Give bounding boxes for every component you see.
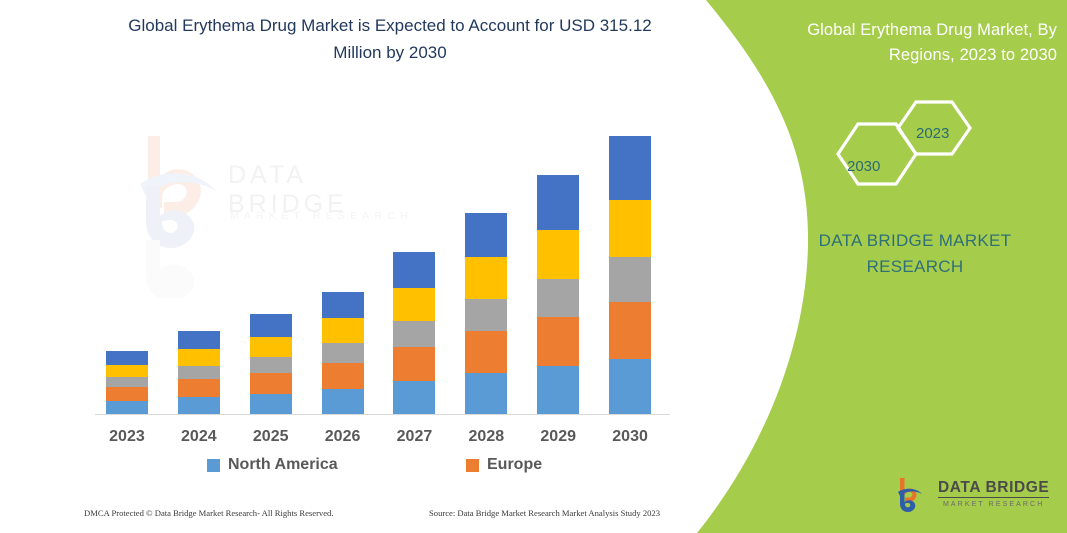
legend-swatch-north-america [207,459,220,472]
bar-segment-2026-north-america[interactable] [322,389,364,414]
bar-segment-2030-south-america[interactable] [609,200,651,257]
hexagon-2023-label: 2023 [916,125,949,142]
logo-line-2: MARKET RESEARCH [938,501,1049,508]
bar-2027[interactable] [393,252,435,414]
x-axis-label-2027: 2027 [384,428,444,446]
bar-segment-2028-europe[interactable] [465,331,507,373]
bar-segment-2030-middle-east-and-africa[interactable] [609,136,651,200]
bar-segment-2027-middle-east-and-africa[interactable] [393,252,435,288]
brand-name-text: DATA BRIDGE MARKET RESEARCH [780,228,1050,280]
chart-legend: North AmericaEurope [95,456,670,480]
legend-label-europe: Europe [487,456,542,474]
x-axis-label-2026: 2026 [313,428,373,446]
footer-dmca-text: DMCA Protected © Data Bridge Market Rese… [84,508,334,518]
stacked-bar-chart [95,100,670,415]
bar-segment-2029-north-america[interactable] [537,366,579,414]
data-bridge-logo: DATA BRIDGE MARKET RESEARCH [893,472,1053,516]
bar-segment-2026-middle-east-and-africa[interactable] [322,292,364,318]
bar-segment-2026-asia-pacific[interactable] [322,343,364,363]
bar-segment-2023-asia-pacific[interactable] [106,377,148,387]
bar-2024[interactable] [178,331,220,414]
data-bridge-logo-icon [893,475,931,513]
bar-2030[interactable] [609,136,651,414]
x-axis-line [95,414,670,415]
x-axis-label-2029: 2029 [528,428,588,446]
legend-item-europe[interactable]: Europe [466,456,542,474]
x-axis-label-2023: 2023 [97,428,157,446]
bar-segment-2026-south-america[interactable] [322,318,364,343]
x-axis-label-2024: 2024 [169,428,229,446]
bar-segment-2028-north-america[interactable] [465,373,507,414]
hexagon-2030-shape [838,124,916,184]
bar-2028[interactable] [465,213,507,414]
bar-segment-2024-middle-east-and-africa[interactable] [178,331,220,349]
bar-segment-2023-europe[interactable] [106,387,148,401]
bar-segment-2030-north-america[interactable] [609,359,651,414]
bar-segment-2025-south-america[interactable] [250,337,292,357]
bar-segment-2029-south-america[interactable] [537,230,579,279]
bar-segment-2024-north-america[interactable] [178,397,220,414]
bar-segment-2030-asia-pacific[interactable] [609,257,651,302]
bar-segment-2027-europe[interactable] [393,347,435,381]
bar-segment-2025-europe[interactable] [250,373,292,394]
bar-segment-2023-south-america[interactable] [106,365,148,377]
bar-segment-2025-asia-pacific[interactable] [250,357,292,373]
bar-segment-2025-north-america[interactable] [250,394,292,414]
legend-label-north-america: North America [228,456,338,474]
footer-source-text: Source: Data Bridge Market Research Mark… [429,508,660,518]
x-axis-label-2028: 2028 [456,428,516,446]
bar-segment-2029-asia-pacific[interactable] [537,279,579,317]
bar-segment-2023-middle-east-and-africa[interactable] [106,351,148,365]
footer: DMCA Protected © Data Bridge Market Rese… [84,508,684,524]
x-axis-label-2030: 2030 [600,428,660,446]
bar-segment-2023-north-america[interactable] [106,401,148,414]
bar-2025[interactable] [250,314,292,414]
x-axis-labels: 20232024202520262027202820292030 [95,428,670,454]
data-bridge-logo-wordmark: DATA BRIDGE MARKET RESEARCH [938,480,1049,509]
right-panel-title: Global Erythema Drug Market, By Regions,… [762,18,1057,68]
bar-segment-2028-south-america[interactable] [465,257,507,299]
x-axis-label-2025: 2025 [241,428,301,446]
bar-segment-2028-middle-east-and-africa[interactable] [465,213,507,257]
hexagon-badges: 2023 2030 [820,96,990,194]
legend-item-north-america[interactable]: North America [207,456,338,474]
bar-segment-2027-north-america[interactable] [393,381,435,414]
bar-segment-2027-south-america[interactable] [393,288,435,321]
bar-segment-2026-europe[interactable] [322,363,364,389]
logo-line-1: DATA BRIDGE [938,480,1049,499]
legend-swatch-europe [466,459,479,472]
bar-segment-2024-europe[interactable] [178,379,220,397]
bar-2026[interactable] [322,292,364,414]
bar-segment-2028-asia-pacific[interactable] [465,299,507,331]
bar-segment-2024-asia-pacific[interactable] [178,366,220,379]
bar-segment-2030-europe[interactable] [609,302,651,359]
bar-segment-2024-south-america[interactable] [178,349,220,366]
bar-segment-2029-middle-east-and-africa[interactable] [537,175,579,230]
bar-segment-2027-asia-pacific[interactable] [393,321,435,347]
bar-segment-2029-europe[interactable] [537,317,579,366]
page-title: Global Erythema Drug Market is Expected … [110,12,670,66]
bar-segment-2025-middle-east-and-africa[interactable] [250,314,292,337]
bar-2029[interactable] [537,175,579,414]
infographic-root: Global Erythema Drug Market, By Regions,… [0,0,1067,533]
hexagon-2030-label: 2030 [847,158,880,175]
bar-2023[interactable] [106,351,148,414]
